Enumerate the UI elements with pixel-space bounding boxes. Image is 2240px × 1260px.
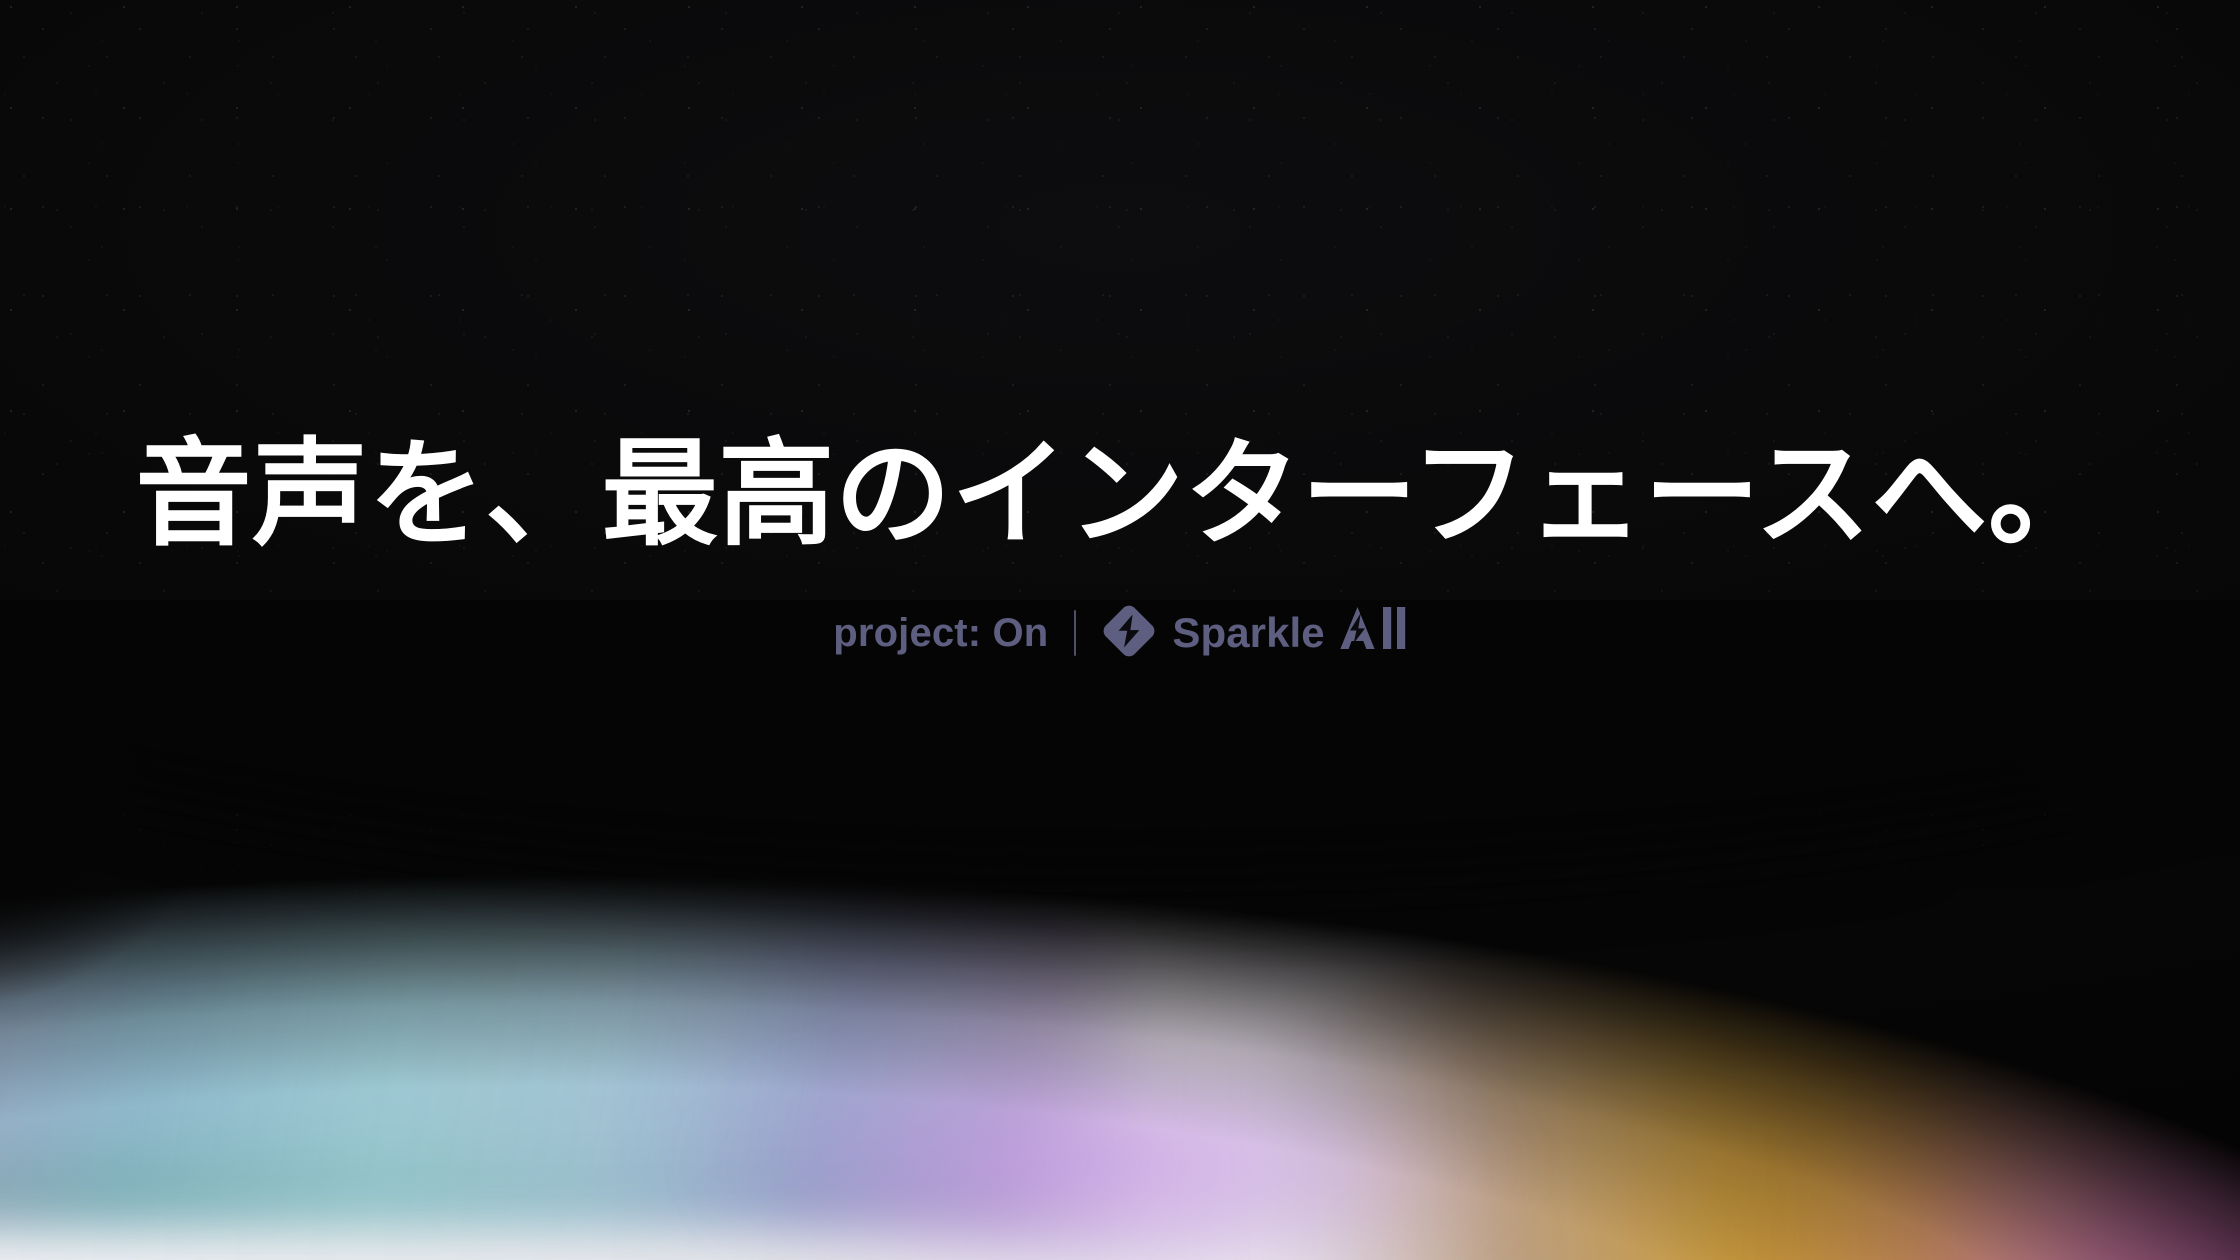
page-title: 音声を、最高のインターフェースへ。	[0, 430, 2240, 560]
wave-band-magenta	[1640, 860, 2240, 1260]
project-label: project: On	[833, 611, 1048, 656]
brand-name-text: Sparkle	[1172, 609, 1324, 657]
brand-wordmark: Sparkle	[1172, 605, 1406, 661]
brand-meta-row: project: On Sparkle	[0, 604, 2240, 663]
aurora-wave-graphic	[0, 600, 2240, 1260]
brand-lockup: Sparkle	[1102, 604, 1406, 663]
wave-band-indigo	[0, 750, 1240, 1150]
wave-shape-mask	[0, 600, 2240, 1260]
wave-layer	[0, 600, 2240, 1260]
ai-bolt-wordmark-icon	[1339, 605, 1407, 661]
presentation-slide: 音声を、最高のインターフェースへ。 project: On Sparkle	[0, 0, 2240, 1260]
sparkle-bolt-diamond-icon	[1102, 604, 1156, 663]
vertical-divider	[1074, 610, 1076, 656]
hero-content: 音声を、最高のインターフェースへ。 project: On Sparkle	[0, 430, 2240, 663]
